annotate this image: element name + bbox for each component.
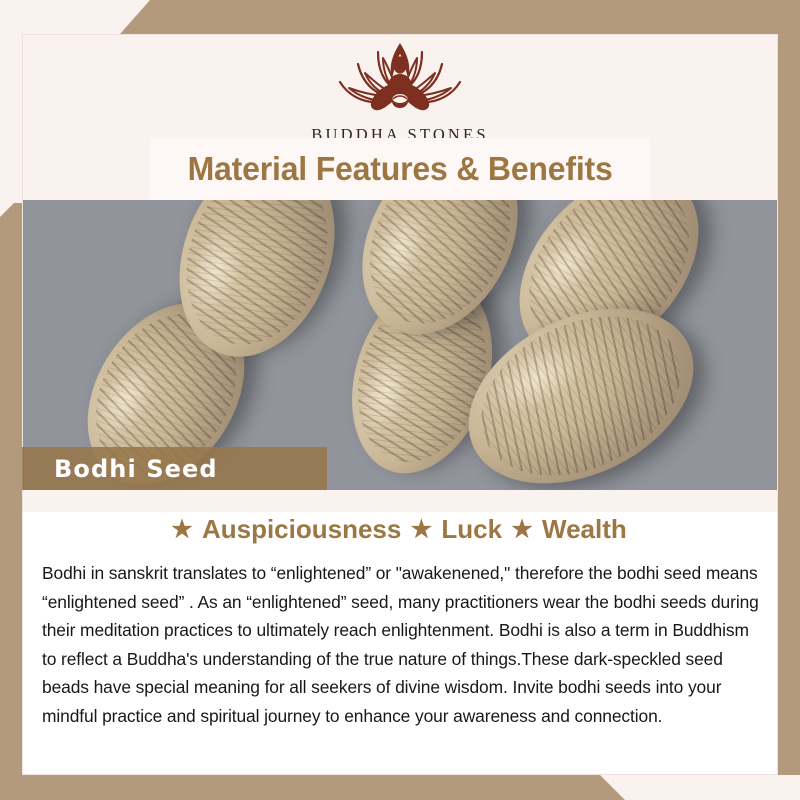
star-icon: ★ [171, 516, 193, 543]
benefit-luck: Luck [439, 514, 504, 544]
description-text: Bodhi in sanskrit translates to “enlight… [42, 559, 760, 731]
benefits-heading: ★ Auspiciousness ★ Luck ★ Wealth [22, 514, 778, 545]
brand-logo: BUDDHA STONES [0, 38, 800, 145]
frame-bottom-band [0, 775, 800, 800]
photo-caption-bar: Bodhi Seed [22, 447, 327, 490]
content-panel: ★ Auspiciousness ★ Luck ★ Wealth Bodhi i… [22, 490, 778, 775]
page-title: Material Features & Benefits [187, 150, 612, 188]
photo-caption-text: Bodhi Seed [22, 455, 218, 483]
benefit-auspiciousness: Auspiciousness [200, 514, 403, 544]
star-icon: ★ [511, 516, 533, 543]
lotus-meditation-icon [334, 38, 466, 122]
star-icon: ★ [411, 516, 433, 543]
frame-top-band [0, 0, 800, 34]
content-top-tint [22, 490, 778, 512]
title-banner: Material Features & Benefits [150, 138, 650, 200]
benefit-wealth: Wealth [540, 514, 629, 544]
frame-right-band [778, 0, 800, 775]
poster-root: BUDDHA STONES Material Features & Benefi… [0, 0, 800, 800]
frame-left-band [0, 203, 22, 800]
